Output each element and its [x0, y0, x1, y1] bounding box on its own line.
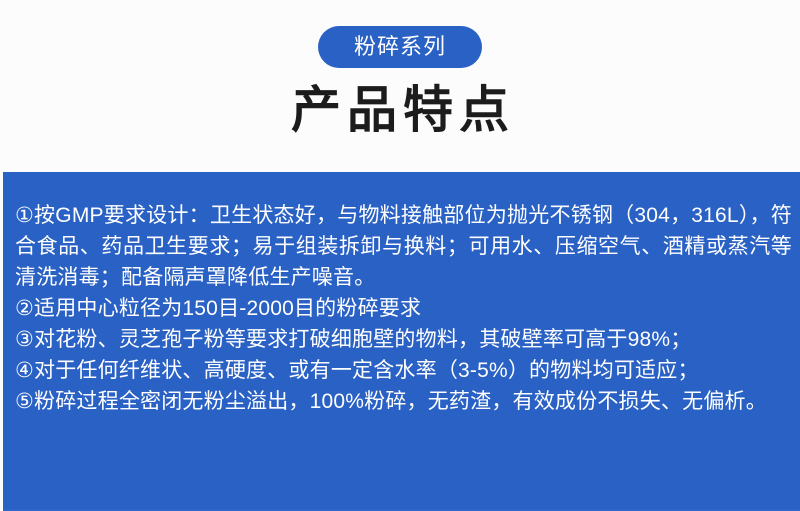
product-features-page: 粉碎系列 产品特点 ①按GMP要求设计：卫生状态好，与物料接触部位为抛光不锈钢（… [0, 0, 800, 511]
list-item: ④对于任何纤维状、高硬度、或有一定含水率（3-5%）的物料均可适应； [15, 355, 792, 386]
list-item: ②适用中心粒径为150目-2000目的粉碎要求 [15, 293, 792, 324]
series-badge: 粉碎系列 [318, 26, 482, 68]
page-header: 粉碎系列 产品特点 [0, 0, 800, 172]
feature-list: ①按GMP要求设计：卫生状态好，与物料接触部位为抛光不锈钢（304，316L），… [15, 200, 792, 417]
features-panel: ①按GMP要求设计：卫生状态好，与物料接触部位为抛光不锈钢（304，316L），… [3, 172, 800, 511]
features-panel-inner: ①按GMP要求设计：卫生状态好，与物料接触部位为抛光不锈钢（304，316L），… [3, 172, 800, 417]
list-item: ⑤粉碎过程全密闭无粉尘溢出，100%粉碎，无药渣，有效成份不损失、无偏析。 [15, 386, 792, 417]
page-title: 产品特点 [285, 82, 515, 140]
list-item: ①按GMP要求设计：卫生状态好，与物料接触部位为抛光不锈钢（304，316L），… [15, 200, 792, 293]
list-item: ③对花粉、灵芝孢子粉等要求打破细胞壁的物料，其破壁率可高于98%； [15, 324, 792, 355]
